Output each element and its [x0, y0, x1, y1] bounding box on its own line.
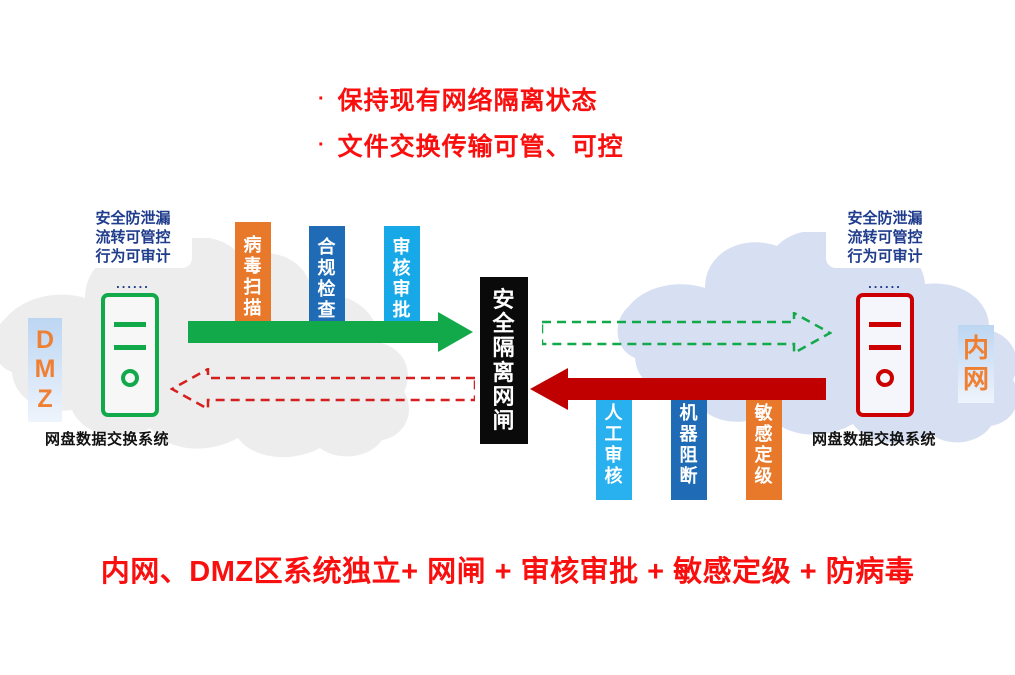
arrow-dmz-to-gateway	[188, 312, 473, 352]
gateway-char-2: 全	[492, 312, 515, 336]
bullet-text-2: 文件交换传输可管、可控	[338, 127, 624, 163]
dmz-letter-m: M	[35, 355, 56, 385]
tag-sensitivity-grading-char-2: 感	[755, 424, 774, 445]
arrow-gateway-to-intranet	[542, 312, 832, 354]
intranet-zone-label: 内 网	[958, 325, 994, 403]
intranet-callout-bubble: 安全防泄漏 流转可管控 行为可审计	[826, 203, 944, 268]
bullet-dot-icon: ·	[318, 135, 326, 155]
gateway-char-6: 闸	[492, 409, 515, 433]
tag-manual-review-char-3: 审	[605, 445, 624, 466]
summary-text: 内网、DMZ区系统独立+ 网闸 + 审核审批 + 敏感定级 + 防病毒	[0, 548, 1015, 590]
intranet-callout-line-2: 流转可管控	[834, 228, 936, 247]
intranet-callout-dots: ......	[826, 278, 944, 290]
dmz-letter-z: Z	[37, 385, 52, 415]
tag-review-approval-char-2: 核	[393, 258, 412, 279]
tag-sensitivity-grading-char-3: 定	[755, 445, 774, 466]
bullet-dot-icon: ·	[318, 89, 326, 109]
dmz-callout-dots: ......	[74, 278, 192, 290]
tag-sensitivity-grading-char-4: 级	[755, 466, 774, 487]
tag-machine-block-char-4: 断	[680, 466, 699, 487]
tag-review-approval-char-3: 审	[393, 279, 412, 300]
tag-review-approval-char-1: 审	[393, 237, 412, 258]
dmz-letter-d: D	[36, 326, 54, 356]
intranet-char-1: 内	[963, 333, 989, 364]
dmz-system-caption: 网盘数据交换系统	[45, 428, 169, 449]
bullet-item-2: · 文件交换传输可管、可控	[318, 122, 818, 168]
tag-virus-scan-char-3: 扫	[244, 277, 263, 298]
gateway-char-1: 安	[492, 288, 515, 312]
bullet-text-1: 保持现有网络隔离状态	[338, 81, 598, 117]
intranet-char-2: 网	[963, 364, 989, 395]
tag-compliance-check-char-1: 合	[318, 237, 337, 258]
tag-compliance-check-char-2: 规	[318, 258, 337, 279]
tag-manual-review-char-2: 工	[605, 424, 624, 445]
intranet-server-icon	[855, 292, 915, 423]
tag-manual-review-char-4: 核	[605, 466, 624, 487]
arrow-intranet-to-gateway	[530, 368, 826, 410]
tag-virus-scan-char-2: 毒	[244, 256, 263, 277]
dmz-server-icon	[100, 292, 160, 423]
bullet-item-1: · 保持现有网络隔离状态	[318, 76, 818, 122]
bullet-list: · 保持现有网络隔离状态 · 文件交换传输可管、可控	[318, 76, 818, 168]
tag-virus-scan-char-1: 病	[244, 235, 263, 256]
tag-machine-block-char-2: 器	[680, 424, 699, 445]
dmz-callout-line-1: 安全防泄漏	[82, 209, 184, 228]
dmz-callout-line-3: 行为可审计	[82, 247, 184, 266]
security-gateway-block[interactable]: 安 全 隔 离 网 闸	[480, 277, 528, 444]
intranet-callout-line-1: 安全防泄漏	[834, 209, 936, 228]
dmz-zone-label: D M Z	[28, 318, 62, 422]
gateway-char-4: 离	[492, 361, 515, 385]
dmz-callout-line-2: 流转可管控	[82, 228, 184, 247]
gateway-char-3: 隔	[492, 336, 515, 360]
dmz-callout-bubble: 安全防泄漏 流转可管控 行为可审计	[74, 203, 192, 268]
diagram-canvas: · 保持现有网络隔离状态 · 文件交换传输可管、可控 安全防泄漏 流转可管控 行…	[0, 0, 1015, 675]
gateway-char-5: 网	[492, 385, 515, 409]
intranet-system-caption: 网盘数据交换系统	[812, 428, 936, 449]
tag-machine-block-char-3: 阻	[680, 445, 699, 466]
intranet-callout-line-3: 行为可审计	[834, 247, 936, 266]
arrow-gateway-to-dmz	[170, 368, 475, 410]
tag-compliance-check-char-3: 检	[318, 279, 337, 300]
